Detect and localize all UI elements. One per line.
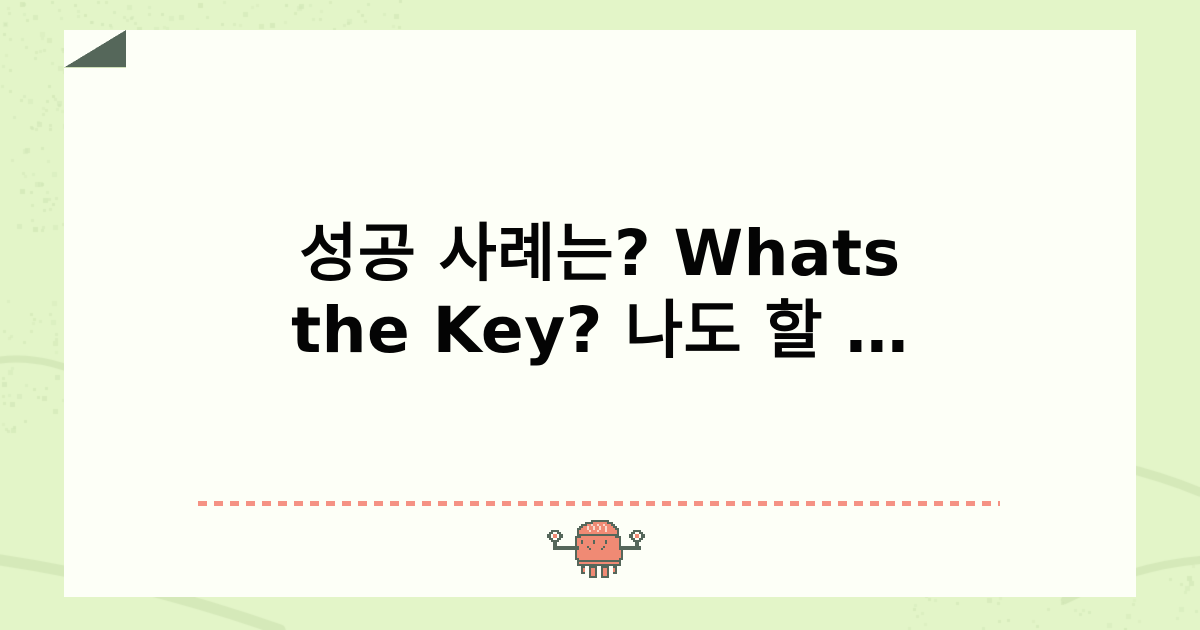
divider xyxy=(198,501,1000,506)
title-block: 성공 사례는? Whats the Key? 나도 할 … xyxy=(64,216,1136,370)
share-card: 성공 사례는? Whats the Key? 나도 할 … xyxy=(64,30,1136,597)
mascot-icon xyxy=(545,520,655,580)
page-title: 성공 사례는? Whats the Key? 나도 할 … xyxy=(64,216,1136,370)
corner-fold-icon xyxy=(64,30,126,68)
